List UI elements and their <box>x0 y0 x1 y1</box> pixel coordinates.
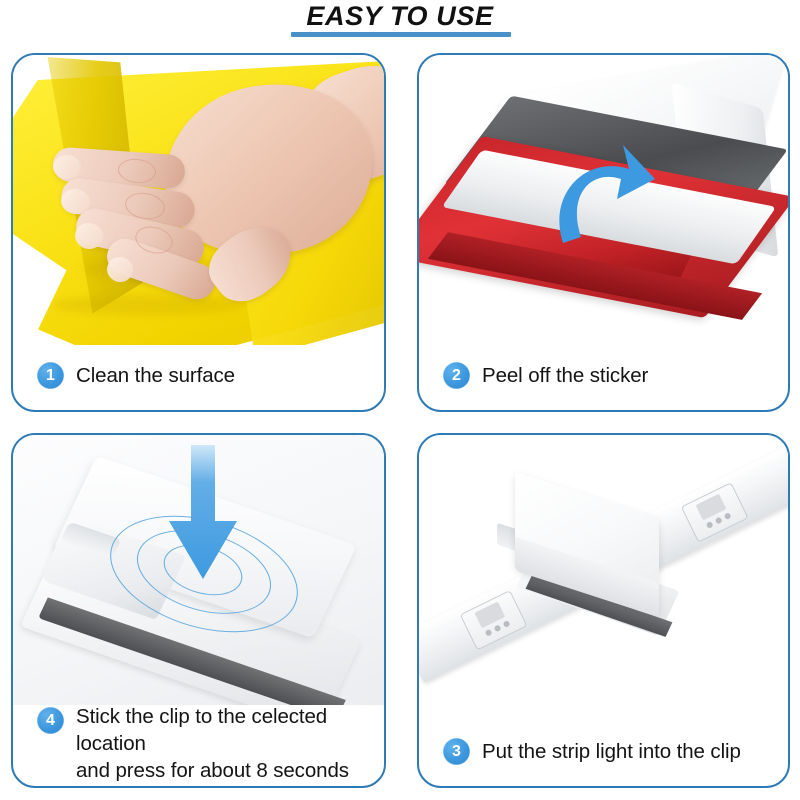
step-caption-line2: and press for about 8 seconds <box>76 757 384 784</box>
step-panel-clean-surface[interactable]: 1 Clean the surface <box>11 53 386 412</box>
step-number-badge: 3 <box>443 738 470 765</box>
illustration-insert-strip <box>419 435 788 705</box>
step-number-badge: 1 <box>37 362 64 389</box>
step-caption-line1: Stick the clip to the celected location <box>76 705 327 755</box>
step-caption-text: Clean the surface <box>76 362 235 389</box>
led-solder-dot <box>715 517 723 525</box>
led-chip <box>696 494 727 521</box>
step-caption-line1: Clean the surface <box>76 364 235 387</box>
peel-arrow-icon <box>537 139 657 259</box>
led-pad <box>681 482 749 543</box>
step-caption-text: Put the strip light into the clip <box>482 738 741 765</box>
led-solder-dot <box>706 521 714 529</box>
step-number-badge: 2 <box>443 362 470 389</box>
step-caption-row: 1 Clean the surface <box>13 341 384 410</box>
page-title: EASY TO USE <box>0 1 800 32</box>
step-caption-row: 3 Put the strip light into the clip <box>419 717 788 786</box>
led-solder-dot <box>485 629 493 637</box>
header: EASY TO USE <box>0 0 800 48</box>
step-panel-insert-strip[interactable]: 3 Put the strip light into the clip <box>417 433 790 788</box>
led-solder-dot <box>724 512 732 520</box>
led-chip <box>474 602 505 629</box>
illustration-clean-surface <box>13 55 384 345</box>
press-down-arrow-icon <box>163 445 243 585</box>
title-underline <box>291 32 511 37</box>
step-caption-line1: Put the strip light into the clip <box>482 740 741 763</box>
step-panel-peel-sticker[interactable]: 2 Peel off the sticker <box>417 53 790 412</box>
led-solder-dot <box>503 620 511 628</box>
step-number-badge: 4 <box>37 707 64 734</box>
led-solder-dot <box>494 624 502 632</box>
cloth-crease <box>53 295 243 315</box>
step-caption-text: Peel off the sticker <box>482 362 648 389</box>
step-caption-row: 4 Stick the clip to the celected locatio… <box>13 701 384 786</box>
illustration-press-clip <box>13 435 384 705</box>
led-pad <box>460 590 528 651</box>
step-caption-line1: Peel off the sticker <box>482 364 648 387</box>
step-panel-stick-and-press[interactable]: 4 Stick the clip to the celected locatio… <box>11 433 386 788</box>
step-caption-text: Stick the clip to the celected location … <box>76 703 384 784</box>
step-caption-row: 2 Peel off the sticker <box>419 341 788 410</box>
illustration-peel-sticker <box>419 55 788 345</box>
